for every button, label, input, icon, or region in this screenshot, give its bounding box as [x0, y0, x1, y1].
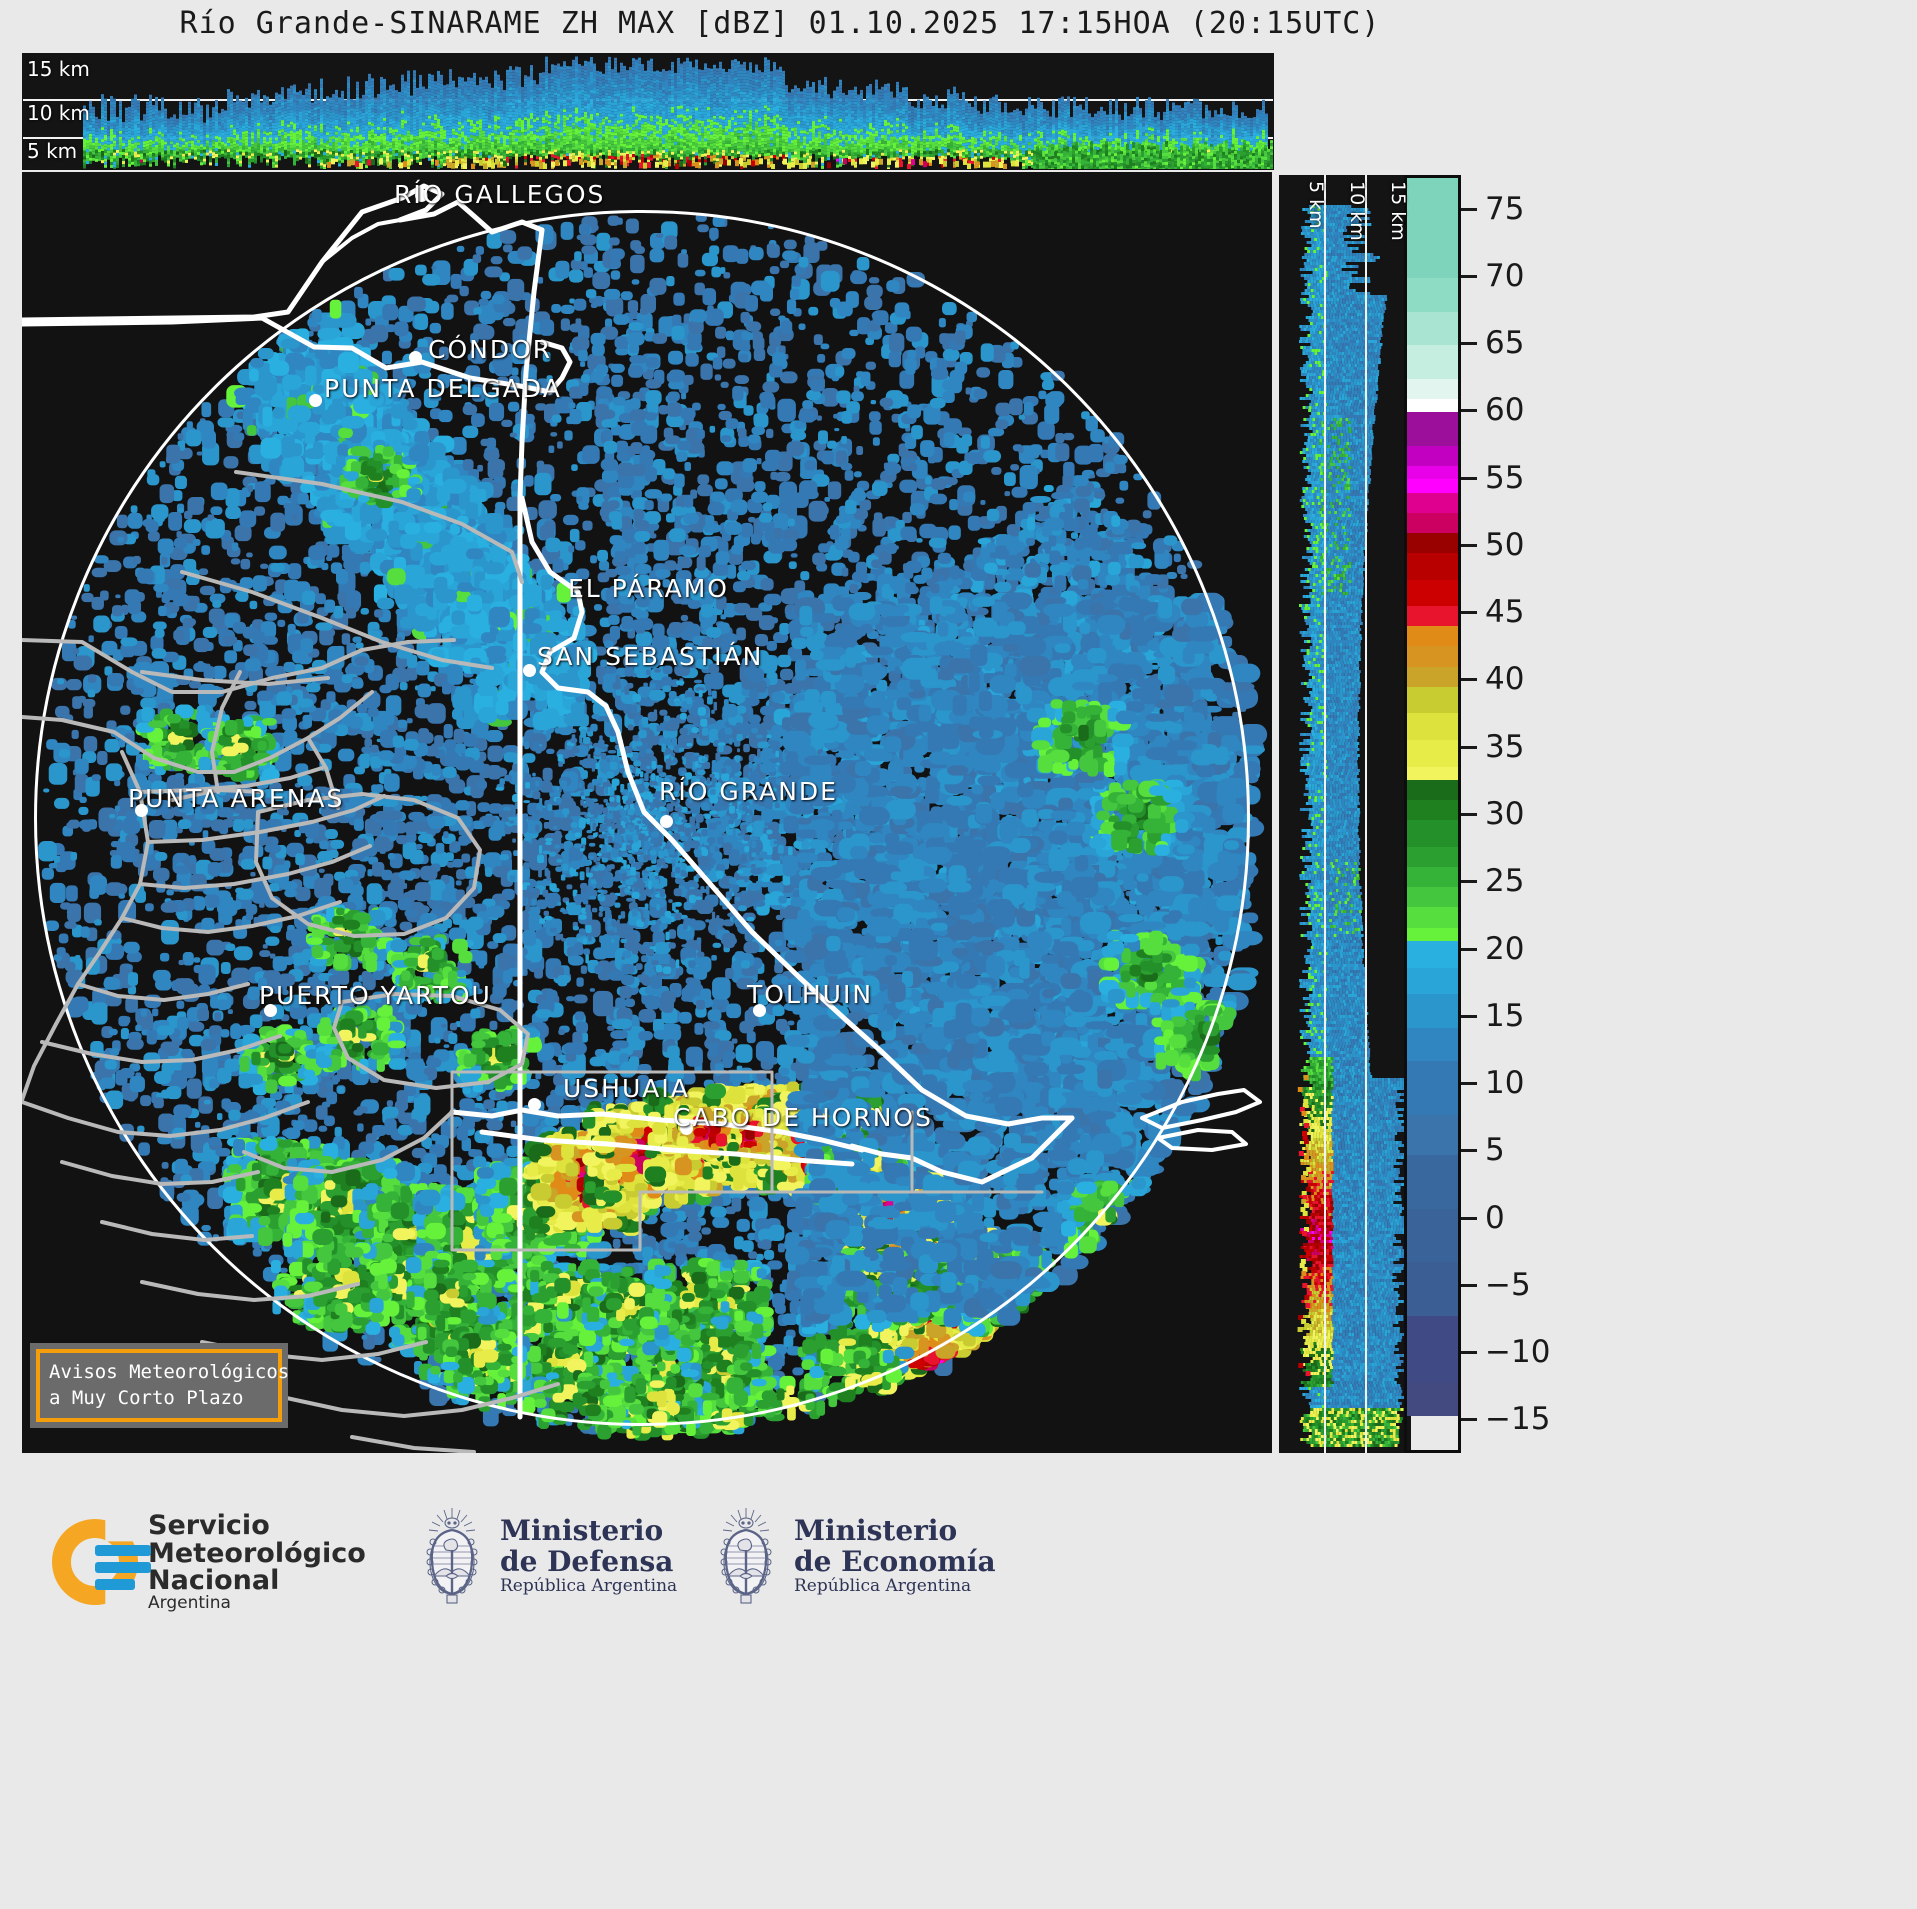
top-cross-section-echoes	[23, 54, 1273, 169]
city-label: CABO DE HORNOS	[673, 1103, 933, 1132]
colorbar-segment	[1407, 1209, 1458, 1263]
smn-wave-1	[95, 1545, 151, 1556]
colorbar-segment	[1407, 968, 1458, 995]
city-label: RÍO GRANDE	[659, 777, 838, 806]
colorbar-tick-label: 35	[1485, 729, 1524, 765]
height-gridline-5km-right	[1324, 175, 1326, 1453]
city-label: RÍO GALLEGOS	[394, 180, 605, 209]
colorbar-segment	[1407, 1061, 1458, 1115]
colorbar-segment	[1407, 345, 1458, 378]
colorbar-segment	[1407, 887, 1458, 907]
top-height-label-15km: 15 km	[27, 57, 90, 81]
colorbar-tick	[1461, 948, 1477, 951]
colorbar-segment	[1407, 533, 1458, 553]
colorbar-segment	[1407, 1316, 1458, 1383]
dbz-colorbar-ticks: 757065605550454035302520151050−5−10−15	[1461, 175, 1621, 1453]
colorbar-segment	[1407, 606, 1458, 626]
smn-logo-text: Servicio Meteorológico Nacional Argentin…	[148, 1512, 366, 1612]
colorbar-segment	[1407, 626, 1458, 646]
colorbar-segment	[1407, 312, 1458, 345]
smn-line-1: Servicio	[148, 1512, 366, 1540]
footer: Servicio Meteorológico Nacional Argentin…	[0, 1470, 1917, 1909]
economia-line-3: República Argentina	[794, 1577, 996, 1596]
colorbar-segment	[1407, 466, 1458, 479]
colorbar-segment	[1407, 513, 1458, 533]
top-height-label-5km: 5 km	[27, 139, 77, 163]
city-marker-dot[interactable]	[523, 664, 536, 677]
right-height-label-5km: 5 km	[1305, 181, 1327, 229]
colorbar-tick	[1461, 1015, 1477, 1018]
colorbar-segment	[1407, 580, 1458, 607]
colorbar-segment	[1407, 928, 1458, 941]
colorbar-segment	[1407, 1115, 1458, 1155]
colorbar-tick	[1461, 208, 1477, 211]
colorbar-segment	[1407, 847, 1458, 867]
colorbar-tick-label: 15	[1485, 998, 1524, 1034]
colorbar-tick-label: 40	[1485, 661, 1524, 697]
logo-ministerio-defensa[interactable]: Ministerio de Defensa República Argentin…	[418, 1506, 677, 1606]
colorbar-tick	[1461, 1082, 1477, 1085]
colorbar-segment	[1407, 493, 1458, 513]
city-marker-dot[interactable]	[409, 351, 422, 364]
colorbar-segment	[1407, 446, 1458, 466]
colorbar-tick-label: 45	[1485, 594, 1524, 630]
colorbar-tick	[1461, 1284, 1477, 1287]
short-term-warning-box[interactable]: Avisos Meteorológicos a Muy Corto Plazo	[30, 1343, 288, 1428]
colorbar-segment	[1407, 278, 1458, 311]
colorbar-tick-label: 10	[1485, 1065, 1524, 1101]
colorbar-tick	[1461, 1217, 1477, 1220]
colorbar-tick	[1461, 1418, 1477, 1421]
smn-line-2: Meteorológico	[148, 1540, 366, 1568]
colorbar-tick	[1461, 342, 1477, 345]
colorbar-segment	[1407, 479, 1458, 492]
colorbar-segment	[1407, 379, 1458, 399]
right-cross-section-echoes	[1279, 175, 1411, 1453]
colorbar-tick	[1461, 880, 1477, 883]
colorbar-segment	[1407, 1028, 1458, 1061]
colorbar-tick-label: −5	[1485, 1267, 1531, 1303]
colorbar-segment	[1407, 780, 1458, 800]
top-cross-section-panel: 15 km 10 km 5 km	[22, 53, 1274, 170]
colorbar-segment	[1407, 907, 1458, 927]
city-label: CÓNDOR	[428, 335, 552, 364]
colorbar-tick-label: 55	[1485, 460, 1524, 496]
colorbar-tick-label: 5	[1485, 1132, 1505, 1168]
economia-logo-text: Ministerio de Economía República Argenti…	[794, 1516, 996, 1596]
colorbar-tick-label: 20	[1485, 931, 1524, 967]
colorbar-tick-label: 75	[1485, 191, 1524, 227]
colorbar-tick	[1461, 611, 1477, 614]
colorbar-segment	[1407, 412, 1458, 445]
argentina-coat-of-arms-icon-2	[712, 1506, 780, 1606]
city-label: USHUAIA	[563, 1074, 690, 1103]
colorbar-tick-label: 25	[1485, 863, 1524, 899]
radar-ppi-panel[interactable]: RÍO GALLEGOSCÓNDORPUNTA DELGADAEL PÁRAMO…	[22, 172, 1272, 1453]
argentina-coat-of-arms-icon	[418, 1506, 486, 1606]
economia-line-2: de Economía	[794, 1547, 996, 1578]
smn-logo-icon	[52, 1519, 138, 1605]
colorbar-tick-label: 50	[1485, 527, 1524, 563]
city-label: EL PÁRAMO	[568, 574, 729, 603]
city-marker-dot[interactable]	[309, 394, 322, 407]
city-marker-dot[interactable]	[528, 1098, 541, 1111]
colorbar-tick	[1461, 813, 1477, 816]
colorbar-segment	[1407, 1155, 1458, 1209]
warning-line-2: a Muy Corto Plazo	[49, 1386, 269, 1412]
colorbar-tick	[1461, 1351, 1477, 1354]
page-title: Río Grande-SINARAME ZH MAX [dBZ] 01.10.2…	[0, 6, 1560, 41]
smn-wave-3	[95, 1579, 135, 1590]
colorbar-segment	[1407, 646, 1458, 666]
city-marker-dot[interactable]	[660, 815, 673, 828]
city-label: PUNTA ARENAS	[128, 784, 344, 813]
colorbar-tick-label: 60	[1485, 392, 1524, 428]
city-label: PUNTA DELGADA	[324, 374, 562, 403]
colorbar-tick	[1461, 678, 1477, 681]
colorbar-tick	[1461, 1149, 1477, 1152]
colorbar-tick-label: 30	[1485, 796, 1524, 832]
colorbar-tick	[1461, 477, 1477, 480]
colorbar-tick-label: 65	[1485, 325, 1524, 361]
colorbar-segment	[1407, 767, 1458, 780]
city-label: TOLHUIN	[747, 980, 873, 1009]
economia-line-1: Ministerio	[794, 1516, 996, 1547]
colorbar-tick-label: 70	[1485, 258, 1524, 294]
colorbar-segment	[1407, 740, 1458, 767]
colorbar-segment	[1407, 211, 1458, 244]
city-label: PUERTO YARTOU	[259, 981, 492, 1010]
colorbar-segment	[1407, 245, 1458, 278]
defensa-logo-text: Ministerio de Defensa República Argentin…	[500, 1516, 677, 1596]
colorbar-segment	[1407, 994, 1458, 1027]
warning-box-inner: Avisos Meteorológicos a Muy Corto Plazo	[36, 1349, 282, 1422]
colorbar-tick	[1461, 275, 1477, 278]
colorbar-tick-label: 0	[1485, 1200, 1505, 1236]
colorbar-segment	[1407, 553, 1458, 580]
defensa-line-1: Ministerio	[500, 1516, 677, 1547]
colorbar-segment	[1407, 1262, 1458, 1316]
colorbar-segment	[1407, 800, 1458, 820]
colorbar-segment	[1407, 867, 1458, 887]
colorbar-tick-label: −15	[1485, 1401, 1550, 1437]
city-label: SAN SEBASTIÁN	[537, 642, 763, 671]
colorbar-segment	[1407, 713, 1458, 740]
colorbar-segment	[1407, 178, 1458, 211]
colorbar-tick	[1461, 746, 1477, 749]
smn-line-3: Nacional	[148, 1567, 366, 1595]
right-height-label-15km: 15 km	[1387, 181, 1409, 241]
colorbar-segment	[1407, 399, 1458, 412]
defensa-line-2: de Defensa	[500, 1547, 677, 1578]
top-height-label-10km: 10 km	[27, 101, 90, 125]
colorbar-tick	[1461, 409, 1477, 412]
colorbar-tick	[1461, 544, 1477, 547]
logo-smn[interactable]: Servicio Meteorológico Nacional Argentin…	[52, 1512, 366, 1612]
height-gridline-10km-right	[1365, 175, 1367, 1453]
logo-ministerio-economia[interactable]: Ministerio de Economía República Argenti…	[712, 1506, 996, 1606]
smn-wave-2	[95, 1562, 151, 1573]
smn-line-4: Argentina	[148, 1595, 366, 1612]
colorbar-segment	[1407, 820, 1458, 847]
colorbar-tick-label: −10	[1485, 1334, 1550, 1370]
colorbar-segment	[1407, 1383, 1458, 1416]
colorbar-segment	[1407, 667, 1458, 687]
right-cross-section-panel: 5 km 10 km 15 km	[1279, 175, 1411, 1453]
defensa-line-3: República Argentina	[500, 1577, 677, 1596]
right-height-label-10km: 10 km	[1346, 181, 1368, 241]
colorbar-segment	[1407, 687, 1458, 714]
dbz-colorbar	[1404, 175, 1461, 1453]
colorbar-segment	[1407, 941, 1458, 968]
warning-line-1: Avisos Meteorológicos	[49, 1360, 269, 1386]
